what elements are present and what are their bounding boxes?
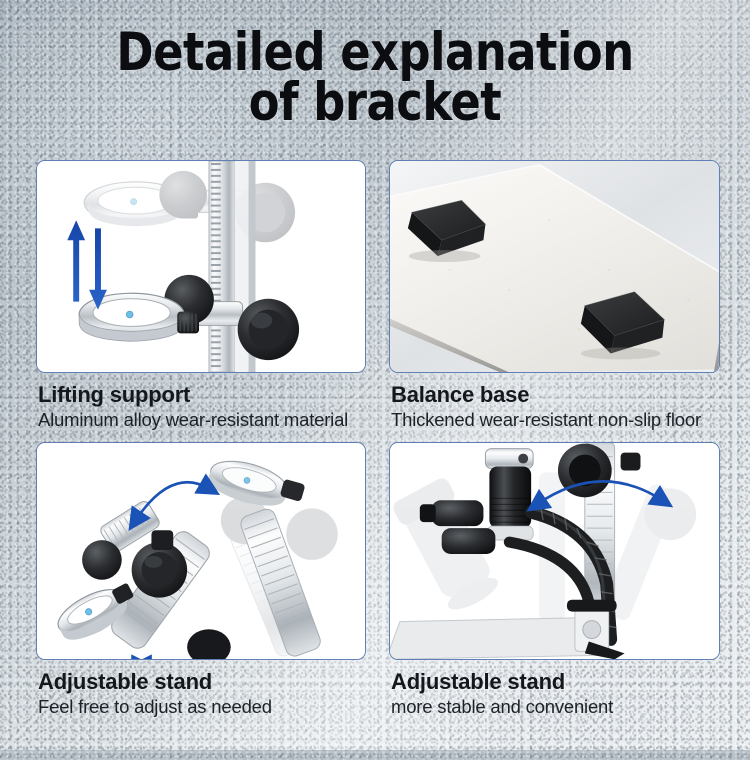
page-title: Detailed explanation of bracket (23, 28, 728, 128)
page-title-line-1: Detailed explanation (23, 28, 728, 78)
feature-cell-balance-base: Balance base Thickened wear-resistant no… (375, 160, 750, 431)
feature-row-top: Lifting support Aluminum alloy wear-resi… (0, 160, 750, 431)
feature-heading: Balance base (391, 382, 718, 408)
caption-lifting-support: Lifting support Aluminum alloy wear-resi… (36, 373, 366, 431)
infographic-page: Detailed explanation of bracket (0, 0, 750, 750)
feature-cell-adjustable-stand-arm: Adjustable stand Feel free to adjust as … (0, 442, 375, 718)
lifting-support-illustration (37, 161, 365, 372)
feature-heading: Adjustable stand (391, 669, 718, 695)
feature-cell-lifting-support: Lifting support Aluminum alloy wear-resi… (0, 160, 375, 431)
caption-adjustable-stand-arm: Adjustable stand Feel free to adjust as … (36, 660, 366, 718)
feature-heading: Lifting support (38, 382, 364, 408)
balance-base-illustration (390, 161, 719, 372)
feature-cell-adjustable-stand-gooseneck: Adjustable stand more stable and conveni… (375, 442, 750, 718)
photo-panel-adjustable-stand-gooseneck (389, 442, 720, 660)
gooseneck-illustration (390, 443, 719, 659)
photo-panel-lifting-support (36, 160, 366, 373)
feature-description: Feel free to adjust as needed (38, 697, 364, 718)
caption-adjustable-stand-gooseneck: Adjustable stand more stable and conveni… (389, 660, 720, 718)
caption-balance-base: Balance base Thickened wear-resistant no… (389, 373, 720, 431)
feature-description: Thickened wear-resistant non-slip floor (391, 410, 718, 431)
feature-heading: Adjustable stand (38, 669, 364, 695)
photo-panel-balance-base (389, 160, 720, 373)
feature-grid: Lifting support Aluminum alloy wear-resi… (0, 160, 750, 717)
feature-description: more stable and convenient (391, 697, 718, 718)
feature-description: Aluminum alloy wear-resistant material (38, 410, 364, 431)
adjustable-arm-illustration (37, 443, 365, 659)
photo-panel-adjustable-stand-arm (36, 442, 366, 660)
page-title-line-2: of bracket (23, 78, 728, 128)
feature-row-bottom: Adjustable stand Feel free to adjust as … (0, 442, 750, 718)
